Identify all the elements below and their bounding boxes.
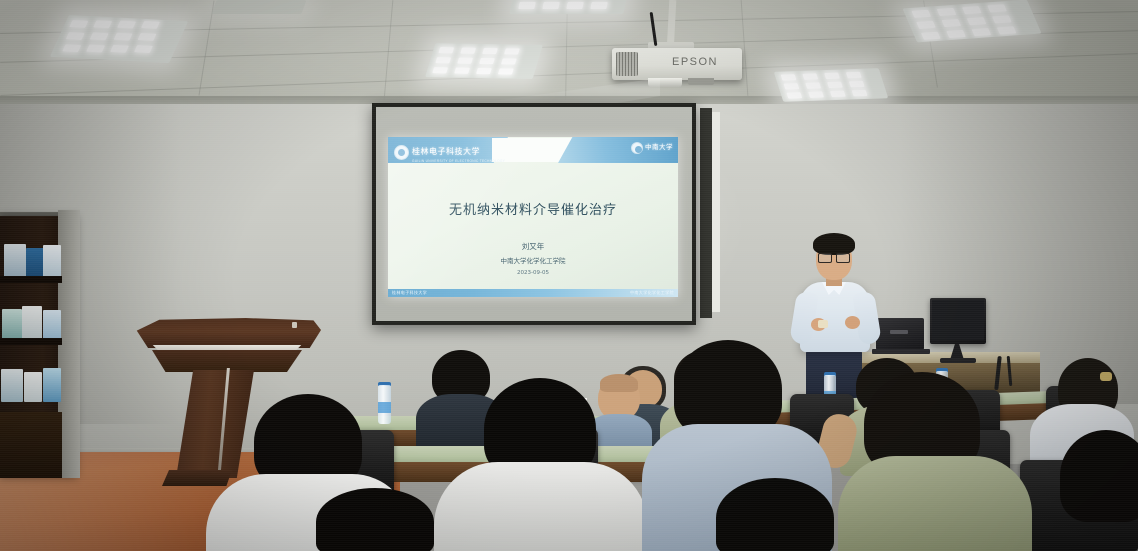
booklet [2,309,22,340]
projector-foot [688,78,714,85]
glasses-icon [818,253,850,262]
monitor-screen [932,300,984,340]
screen-surface: 桂林电子科技大学 GUILIN UNIVERSITY OF ELECTRONIC… [376,107,692,321]
booklet [24,372,42,402]
lecture-room-photo: EPSON 桂林电子科技大学 GUILIN UNIVERSITY OF ELEC… [0,0,1138,551]
desktop-monitor [930,298,986,344]
projection-screen: 桂林电子科技大学 GUILIN UNIVERSITY OF ELECTRONIC… [372,103,696,325]
podium-button[interactable] [292,322,297,328]
audience-torso-front [838,456,1032,551]
ceiling-light-panel [509,0,629,14]
whiteboard-frame [700,108,712,318]
laptop-logo [890,330,908,334]
slide-header-bar: 桂林电子科技大学 GUILIN UNIVERSITY OF ELECTRONIC… [388,137,678,163]
ceiling-light-panel [211,0,306,14]
presenter-clicker[interactable] [818,320,828,328]
booklet [22,306,42,340]
bookshelf-cabinet [0,412,62,478]
projector-vent [616,52,638,76]
slide-footer-left: 桂林电子科技大学 [392,290,427,296]
logo-left-subtext: GUILIN UNIVERSITY OF ELECTRONIC TECHNOLO… [412,159,505,163]
bookshelf-row [0,348,62,402]
booklet [4,244,26,278]
slide-footer-right: 中南大学化学化工学院 [630,290,674,296]
seal-icon [631,142,643,154]
hair-tie [1100,372,1112,381]
podium-base [162,470,232,486]
laptop-keyboard-base [872,349,930,354]
booklet [26,248,44,278]
slide-author: 刘又年 [388,241,678,252]
ceiling-light-panel [425,43,543,79]
ceiling-light-panel [50,15,188,63]
audience-head-front [1060,430,1138,522]
university-logo-right: 中南大学 [631,142,673,154]
monitor-base [940,358,976,363]
logo-right-text: 中南大学 [645,145,673,152]
projector-brand-label: EPSON [660,56,730,68]
water-bottle [378,382,391,424]
university-logo-left: 桂林电子科技大学 GUILIN UNIVERSITY OF ELECTRONIC… [394,141,505,163]
shield-icon [394,145,409,160]
booklet [1,369,23,402]
booklet [43,245,61,278]
bookshelf-row [0,286,62,340]
logo-left-text: 桂林电子科技大学 [412,147,480,156]
booklet [43,368,61,402]
bookshelf-divider [0,338,62,345]
audience-head-front [316,488,434,551]
ceiling-light-panel [774,68,889,102]
bookshelf-divider [0,276,62,283]
booklet [43,310,61,340]
audience-head [600,374,638,392]
audience-torso-front [434,462,648,551]
slide-date: 2023-09-05 [388,270,678,276]
whiteboard-surface [712,112,720,312]
presentation-slide: 桂林电子科技大学 GUILIN UNIVERSITY OF ELECTRONIC… [388,137,678,297]
slide-affiliation: 中南大学化学化工学院 [388,255,678,265]
slide-title: 无机纳米材料介导催化治疗 [388,199,678,218]
speaker-right-hand [845,316,860,329]
audience-head-front [716,478,834,551]
laptop [876,318,924,350]
speaker-hair [813,233,855,255]
bookshelf-row [0,224,62,278]
